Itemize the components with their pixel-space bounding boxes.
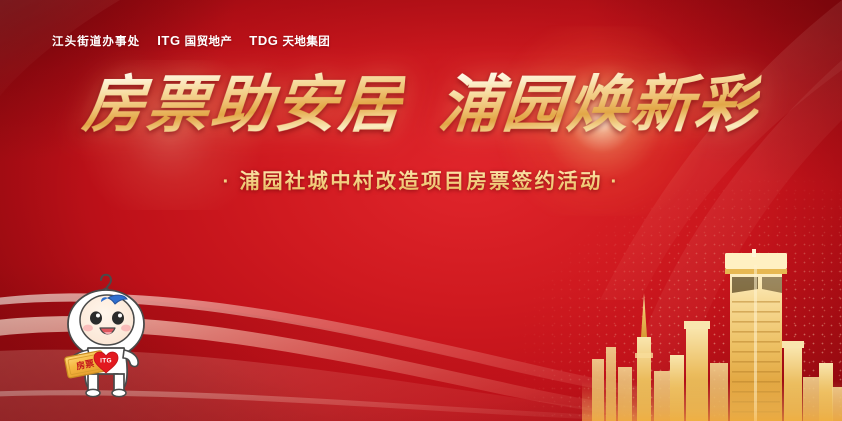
- logo-tdg-group: TDG 天地集团: [249, 33, 330, 49]
- logo-jiangtou-subdistrict-office: 江头街道办事处: [52, 33, 140, 49]
- logo-tdg-latin: TDG: [249, 33, 278, 48]
- itg-mascot: 房票 ITG: [44, 268, 168, 400]
- logo-itg-real-estate: ITG 国贸地产: [157, 33, 232, 49]
- logo-jiangtou-label: 江头街道办事处: [52, 33, 140, 49]
- logo-itg-latin: ITG: [157, 33, 180, 48]
- logo-tdg-cn: 天地集团: [283, 33, 331, 49]
- logo-itg-cn: 国贸地产: [185, 33, 233, 49]
- event-backdrop-poster: 江头街道办事处 ITG 国贸地产 TDG 天地集团 房票助安居 浦园焕新彩 · …: [0, 0, 842, 421]
- mascot-chest-logo: ITG: [100, 358, 112, 365]
- partner-logo-bar: 江头街道办事处 ITG 国贸地产 TDG 天地集团: [52, 33, 330, 49]
